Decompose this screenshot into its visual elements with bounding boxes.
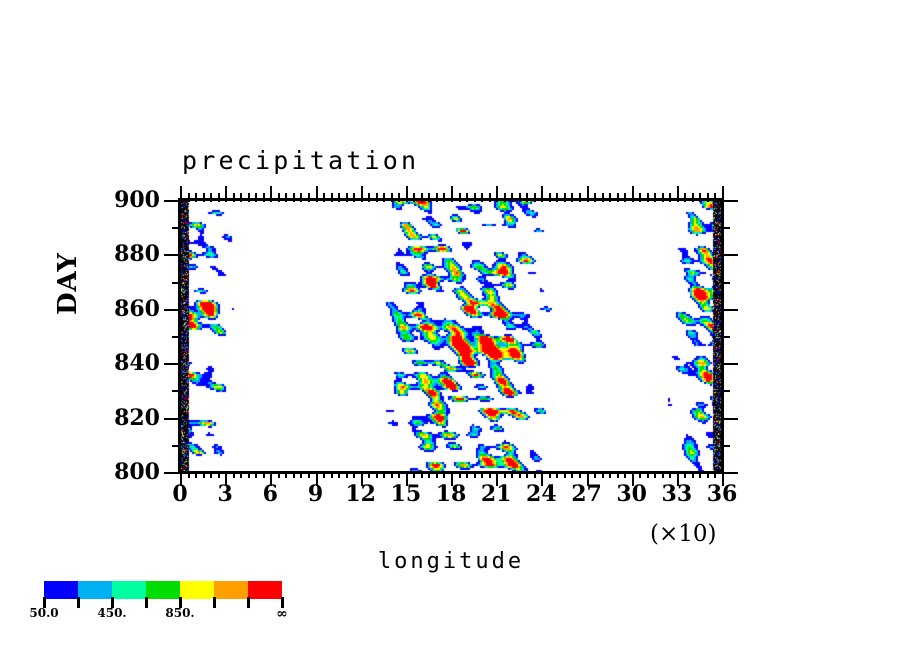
x-tick-bottom [489, 472, 491, 478]
x-tick-bottom [188, 472, 190, 478]
x-tick-bottom [647, 472, 649, 478]
x-tick-top [579, 193, 581, 202]
x-tick-bottom [504, 472, 506, 478]
y-tick-left [172, 227, 180, 229]
y-tick-left [164, 254, 180, 256]
x-tick-bottom [323, 472, 325, 478]
x-tick-label: 30 [616, 481, 647, 507]
x-tick-top [451, 186, 453, 202]
x-tick-top [263, 193, 265, 202]
x-tick-top [353, 193, 355, 202]
y-tick-right [722, 254, 738, 256]
x-tick-bottom [443, 472, 445, 478]
y-tick-right [722, 445, 730, 447]
x-tick-bottom [639, 472, 641, 478]
y-tick-label: 860 [32, 296, 160, 322]
x-tick-top [270, 186, 272, 202]
x-tick-bottom [714, 472, 716, 478]
x-tick-bottom [511, 472, 513, 478]
y-tick-left [164, 418, 180, 420]
y-tick-left [164, 200, 180, 202]
x-tick-top [609, 193, 611, 202]
y-tick-left [164, 363, 180, 365]
x-tick-label: 15 [391, 481, 422, 507]
x-tick-top [654, 193, 656, 202]
x-tick-bottom [571, 472, 573, 478]
x-tick-bottom [692, 472, 694, 478]
x-tick-bottom [707, 472, 709, 478]
x-tick-bottom [466, 472, 468, 478]
y-tick-label: 900 [32, 187, 160, 213]
x-tick-bottom [526, 472, 528, 478]
colorbar-band [214, 581, 248, 599]
x-tick-top [602, 193, 604, 202]
x-tick-bottom [579, 472, 581, 478]
x-tick-label: 27 [571, 481, 602, 507]
x-tick-bottom [278, 472, 280, 478]
x-tick-top [383, 193, 385, 202]
page-title: precipitation [182, 146, 419, 175]
x-tick-label: 36 [707, 481, 738, 507]
x-tick-bottom [436, 472, 438, 478]
x-tick-top [526, 193, 528, 202]
x-tick-top [564, 193, 566, 202]
y-tick-right [722, 418, 738, 420]
x-tick-bottom [203, 472, 205, 478]
x-tick-top [677, 186, 679, 202]
x-tick-bottom [376, 472, 378, 478]
x-tick-top [459, 193, 461, 202]
x-tick-bottom [564, 472, 566, 478]
x-tick-bottom [300, 472, 302, 478]
x-tick-bottom [624, 472, 626, 478]
x-tick-top [639, 193, 641, 202]
x-tick-bottom [421, 472, 423, 478]
x-tick-top [376, 193, 378, 202]
x-tick-bottom [210, 472, 212, 478]
x-tick-bottom [255, 472, 257, 478]
x-tick-top [647, 193, 649, 202]
x-tick-top [571, 193, 573, 202]
colorbar-label: ∞ [276, 606, 288, 622]
x-tick-top [587, 186, 589, 202]
colorbar-label: 850. [165, 606, 194, 620]
x-tick-top [346, 193, 348, 202]
y-tick-right [722, 227, 730, 229]
colorbar-tick [145, 597, 148, 608]
y-tick-left [172, 390, 180, 392]
colorbar-band [248, 581, 282, 599]
x-tick-top [323, 193, 325, 202]
x-tick-bottom [519, 472, 521, 478]
x-tick-bottom [285, 472, 287, 478]
x-tick-bottom [233, 472, 235, 478]
colorbar-tick [77, 597, 80, 608]
x-tick-bottom [248, 472, 250, 478]
x-tick-top [549, 193, 551, 202]
x-tick-top [195, 193, 197, 202]
x-tick-top [624, 193, 626, 202]
y-tick-label: 820 [32, 405, 160, 431]
x-tick-top [210, 193, 212, 202]
x-tick-label: 21 [481, 481, 512, 507]
x-tick-bottom [602, 472, 604, 478]
x-tick-top [331, 193, 333, 202]
x-tick-bottom [240, 472, 242, 478]
x-tick-top [692, 193, 694, 202]
y-tick-right [722, 309, 738, 311]
x-tick-bottom [669, 472, 671, 478]
x-tick-top [594, 193, 596, 202]
x-axis-title: longitude [180, 549, 722, 574]
x-axis-multiplier-label: (×10) [650, 521, 716, 547]
x-tick-bottom [549, 472, 551, 478]
y-tick-right [722, 363, 738, 365]
x-tick-bottom [308, 472, 310, 478]
y-tick-right [722, 472, 738, 474]
y-axis-title: DAY [53, 275, 83, 315]
x-tick-top [180, 186, 182, 202]
y-tick-right [722, 390, 730, 392]
y-axis-tick-labels: 900880860840820800 [0, 0, 160, 654]
colorbar-band [146, 581, 180, 599]
x-tick-top [285, 193, 287, 202]
x-tick-bottom [699, 472, 701, 478]
y-tick-left [172, 445, 180, 447]
x-tick-top [421, 193, 423, 202]
x-tick-top [391, 193, 393, 202]
x-tick-top [300, 193, 302, 202]
x-tick-bottom [293, 472, 295, 478]
y-tick-left [172, 336, 180, 338]
plot-area [180, 200, 722, 472]
x-tick-top [481, 193, 483, 202]
x-tick-top [406, 186, 408, 202]
x-tick-top [338, 193, 340, 202]
x-tick-bottom [391, 472, 393, 478]
x-tick-bottom [218, 472, 220, 478]
x-tick-top [632, 186, 634, 202]
y-tick-left [172, 282, 180, 284]
x-tick-label: 3 [218, 481, 233, 507]
x-tick-bottom [338, 472, 340, 478]
x-tick-bottom [654, 472, 656, 478]
y-tick-right [722, 282, 730, 284]
x-tick-top [398, 193, 400, 202]
x-tick-top [714, 193, 716, 202]
y-tick-label: 840 [32, 350, 160, 376]
x-tick-top [428, 193, 430, 202]
x-tick-bottom [413, 472, 415, 478]
x-tick-bottom [353, 472, 355, 478]
x-tick-top [413, 193, 415, 202]
x-tick-top [368, 193, 370, 202]
x-tick-label: 0 [172, 481, 187, 507]
x-tick-top [218, 193, 220, 202]
colorbar-tick [247, 597, 250, 608]
y-tick-label: 880 [32, 241, 160, 267]
colorbar-label: 450. [97, 606, 126, 620]
x-tick-top [707, 193, 709, 202]
x-tick-bottom [474, 472, 476, 478]
x-tick-label: 6 [263, 481, 278, 507]
x-tick-top [504, 193, 506, 202]
x-tick-bottom [534, 472, 536, 478]
x-tick-top [519, 193, 521, 202]
x-tick-top [233, 193, 235, 202]
x-tick-top [240, 193, 242, 202]
x-tick-top [474, 193, 476, 202]
x-tick-top [511, 193, 513, 202]
x-tick-top [489, 193, 491, 202]
y-tick-left [164, 472, 180, 474]
y-tick-label: 800 [32, 459, 160, 485]
x-tick-bottom [481, 472, 483, 478]
x-tick-bottom [594, 472, 596, 478]
x-tick-bottom [331, 472, 333, 478]
x-tick-top [556, 193, 558, 202]
x-tick-top [278, 193, 280, 202]
x-tick-top [699, 193, 701, 202]
x-tick-top [203, 193, 205, 202]
x-tick-label: 18 [436, 481, 467, 507]
x-tick-bottom [368, 472, 370, 478]
x-tick-top [225, 186, 227, 202]
x-tick-bottom [459, 472, 461, 478]
x-tick-bottom [428, 472, 430, 478]
colorbar-tick [213, 597, 216, 608]
y-tick-right [722, 200, 738, 202]
y-tick-right [722, 336, 730, 338]
x-tick-label: 9 [308, 481, 323, 507]
x-tick-top [308, 193, 310, 202]
x-tick-label: 33 [662, 481, 693, 507]
x-tick-bottom [609, 472, 611, 478]
y-tick-left [164, 309, 180, 311]
colorbar-band [78, 581, 112, 599]
x-tick-top [541, 186, 543, 202]
x-tick-top [188, 193, 190, 202]
x-tick-bottom [383, 472, 385, 478]
x-tick-top [293, 193, 295, 202]
x-tick-bottom [662, 472, 664, 478]
x-tick-top [617, 193, 619, 202]
x-tick-top [248, 193, 250, 202]
x-tick-top [436, 193, 438, 202]
x-tick-bottom [398, 472, 400, 478]
x-tick-top [534, 193, 536, 202]
colorbar-label: 50.0 [29, 606, 58, 620]
x-tick-bottom [684, 472, 686, 478]
x-tick-label: 24 [526, 481, 557, 507]
precipitation-heatmap-canvas [180, 200, 722, 472]
x-tick-bottom [195, 472, 197, 478]
x-tick-top [316, 186, 318, 202]
colorbar-band [112, 581, 146, 599]
x-tick-top [255, 193, 257, 202]
x-tick-bottom [556, 472, 558, 478]
colorbar-band [180, 581, 214, 599]
x-tick-bottom [263, 472, 265, 478]
x-tick-bottom [346, 472, 348, 478]
x-tick-top [361, 186, 363, 202]
x-tick-label: 12 [345, 481, 376, 507]
x-tick-bottom [617, 472, 619, 478]
x-tick-top [443, 193, 445, 202]
x-tick-top [662, 193, 664, 202]
colorbar-band [44, 581, 78, 599]
x-tick-top [496, 186, 498, 202]
x-tick-top [466, 193, 468, 202]
x-tick-top [669, 193, 671, 202]
x-tick-top [684, 193, 686, 202]
